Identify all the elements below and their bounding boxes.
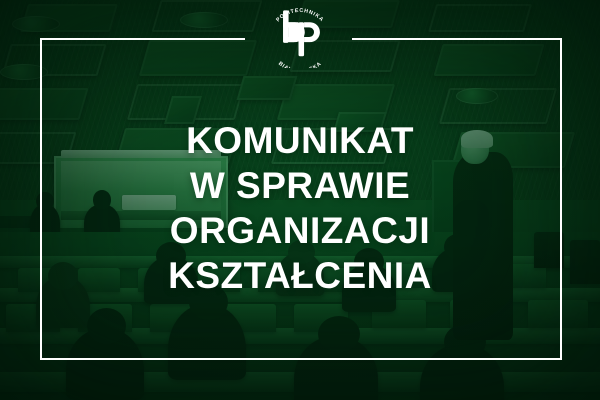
headline-line-2: W SPRAWIE xyxy=(40,163,560,208)
page-title: KOMUNIKAT W SPRAWIE ORGANIZACJI KSZTAŁCE… xyxy=(40,118,560,298)
logo-arc-text-left: POLITECHNIKA xyxy=(275,8,324,23)
headline-line-4: KSZTAŁCENIA xyxy=(40,253,560,298)
politechnika-bialostocka-logo: POLITECHNIKA BIAŁOSTOCKA xyxy=(263,6,337,68)
headline-line-3: ORGANIZACJI xyxy=(40,208,560,253)
logo-arc-text-right: BIAŁOSTOCKA xyxy=(277,61,323,68)
poster-graphic: POLITECHNIKA BIAŁOSTOCKA KOMUNIKAT W SPR… xyxy=(0,0,600,400)
headline-line-1: KOMUNIKAT xyxy=(40,118,560,163)
